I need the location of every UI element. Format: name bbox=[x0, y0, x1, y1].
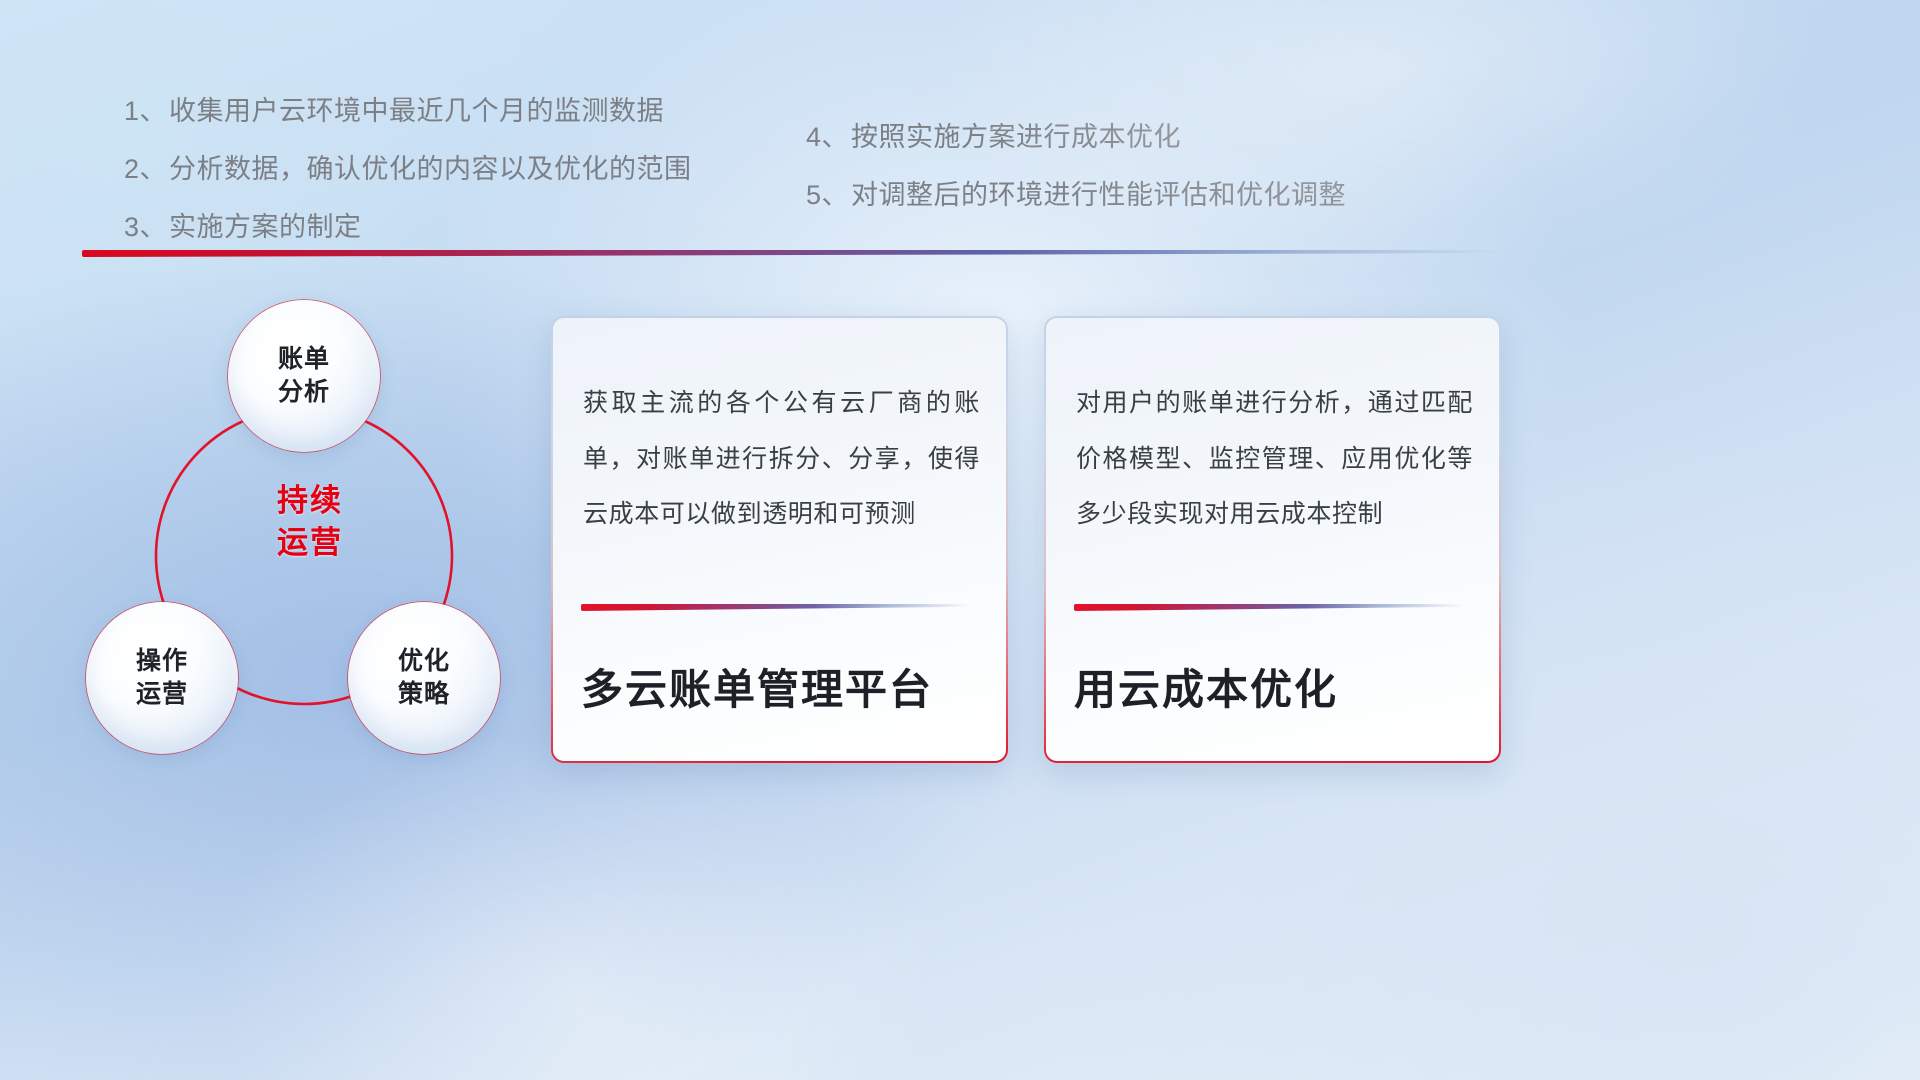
step-text: 按照实施方案进行成本优化 bbox=[851, 122, 1181, 152]
step-item-5: 5、对调整后的环境进行性能评估和优化调整 bbox=[806, 182, 1346, 209]
bubble-label-line2: 策略 bbox=[398, 678, 450, 711]
step-text: 分析数据，确认优化的内容以及优化的范围 bbox=[169, 154, 692, 184]
card-body-text: 对用户的账单进行分析，通过匹配价格模型、监控管理、应用优化等多少段实现对用云成本… bbox=[1076, 376, 1473, 543]
step-number: 2、 bbox=[124, 154, 167, 184]
venn-center-label: 持续 运营 bbox=[230, 480, 390, 563]
step-number: 4、 bbox=[806, 122, 849, 152]
card-multi-cloud-billing-platform[interactable]: 获取主流的各个公有云厂商的账单，对账单进行拆分、分享，使得云成本可以做到透明和可… bbox=[551, 316, 1008, 763]
card-inner: 对用户的账单进行分析，通过匹配价格模型、监控管理、应用优化等多少段实现对用云成本… bbox=[1046, 318, 1499, 761]
bubble-label-line1: 操作 bbox=[136, 645, 188, 678]
step-item-2: 2、分析数据，确认优化的内容以及优化的范围 bbox=[124, 156, 692, 183]
card-title: 多云账单管理平台 bbox=[581, 656, 986, 717]
card-title: 用云成本优化 bbox=[1074, 656, 1479, 717]
venn-center-line2: 运营 bbox=[230, 522, 390, 564]
step-text: 收集用户云环境中最近几个月的监测数据 bbox=[169, 96, 664, 126]
steps-column-left: 1、收集用户云环境中最近几个月的监测数据 2、分析数据，确认优化的内容以及优化的… bbox=[124, 98, 692, 272]
header-divider bbox=[82, 250, 1502, 257]
venn-center-line1: 持续 bbox=[230, 480, 390, 522]
step-number: 3、 bbox=[124, 212, 167, 242]
step-text: 实施方案的制定 bbox=[169, 212, 362, 242]
bubble-label-line1: 账单 bbox=[278, 343, 330, 376]
card-divider bbox=[581, 604, 971, 611]
bubble-label-line2: 分析 bbox=[278, 376, 330, 409]
venn-bubble-bill-analysis[interactable]: 账单 分析 bbox=[228, 300, 380, 452]
venn-bubble-optimization[interactable]: 优化 策略 bbox=[348, 602, 500, 754]
venn-bubble-operations[interactable]: 操作 运营 bbox=[86, 602, 238, 754]
step-item-4: 4、按照实施方案进行成本优化 bbox=[806, 124, 1346, 151]
card-body-text: 获取主流的各个公有云厂商的账单，对账单进行拆分、分享，使得云成本可以做到透明和可… bbox=[583, 376, 980, 543]
step-number: 5、 bbox=[806, 180, 849, 210]
card-inner: 获取主流的各个公有云厂商的账单，对账单进行拆分、分享，使得云成本可以做到透明和可… bbox=[553, 318, 1006, 761]
step-item-3: 3、实施方案的制定 bbox=[124, 214, 692, 241]
slide-canvas: 1、收集用户云环境中最近几个月的监测数据 2、分析数据，确认优化的内容以及优化的… bbox=[0, 0, 1920, 1080]
card-divider bbox=[1074, 604, 1464, 611]
step-text: 对调整后的环境进行性能评估和优化调整 bbox=[851, 180, 1346, 210]
venn-diagram: 账单 分析 操作 运营 优化 策略 持续 运营 bbox=[78, 286, 548, 776]
bubble-label-line2: 运营 bbox=[136, 678, 188, 711]
step-number: 1、 bbox=[124, 96, 167, 126]
step-item-1: 1、收集用户云环境中最近几个月的监测数据 bbox=[124, 98, 692, 125]
card-cloud-cost-optimization[interactable]: 对用户的账单进行分析，通过匹配价格模型、监控管理、应用优化等多少段实现对用云成本… bbox=[1044, 316, 1501, 763]
steps-column-right: 4、按照实施方案进行成本优化 5、对调整后的环境进行性能评估和优化调整 bbox=[806, 124, 1346, 240]
bubble-label-line1: 优化 bbox=[398, 645, 450, 678]
